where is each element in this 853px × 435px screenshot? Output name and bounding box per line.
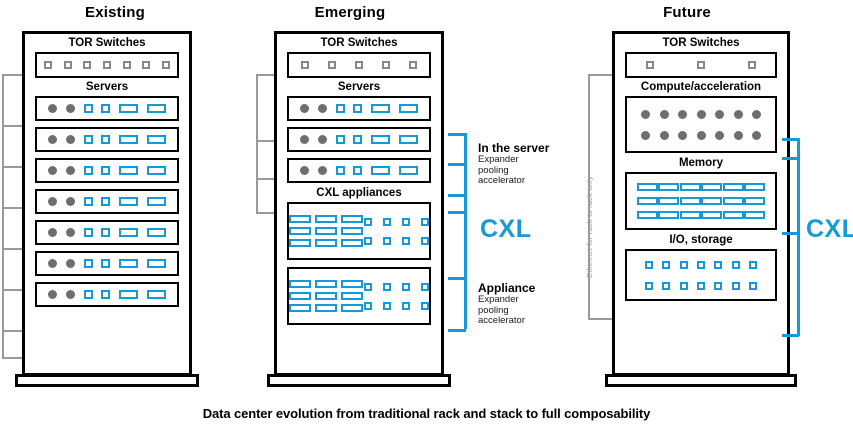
server-components	[296, 104, 422, 113]
section-label-servers-emerging: Servers	[277, 78, 441, 96]
io-device-icon	[714, 282, 722, 290]
annotation-in-the-server: In the server Expander pooling accelerat…	[478, 141, 549, 187]
io-device-icon	[714, 261, 722, 269]
column-future: Future Ethernet for rack to rack only TO…	[580, 0, 810, 400]
appliance-module-row	[289, 292, 363, 300]
server-stack-emerging	[277, 96, 441, 183]
server-components	[44, 228, 170, 237]
column-title-emerging: Emerging	[235, 4, 465, 21]
cxl-port-icon	[101, 166, 110, 175]
memory-module-icon	[744, 197, 765, 205]
tor-port-icon	[83, 61, 91, 69]
annotation-heading: In the server	[478, 141, 549, 155]
section-label-compute-future: Compute/acceleration	[615, 78, 787, 96]
annotation-line: accelerator	[478, 176, 549, 187]
cxl-port-icon	[383, 237, 391, 245]
io-device-icon	[732, 261, 740, 269]
cpu-dot-icon	[66, 259, 75, 268]
annotation-line: Expander	[478, 295, 535, 306]
cpu-dot-icon	[66, 135, 75, 144]
appliance-module-grid	[289, 280, 363, 312]
compute-dot-icon	[697, 131, 706, 140]
annotation-line: accelerator	[478, 316, 535, 327]
cxl-port-icon	[383, 218, 391, 226]
cxl-module-icon	[289, 239, 311, 247]
compute-dot-icon	[752, 131, 761, 140]
tor-port-icon	[355, 61, 363, 69]
tor-port-icon	[409, 61, 417, 69]
tor-port-icon	[123, 61, 131, 69]
cpu-dot-icon	[48, 228, 57, 237]
cxl-port-icon	[336, 104, 345, 113]
appliance-port-row	[364, 218, 429, 226]
tor-port-icon	[142, 61, 150, 69]
cxl-port-icon	[383, 283, 391, 291]
compute-dot-icon	[678, 110, 687, 119]
memory-module-icon	[680, 211, 701, 219]
cpu-dot-icon	[48, 104, 57, 113]
cpu-dot-icon	[66, 104, 75, 113]
cxl-module-icon	[341, 304, 363, 312]
compute-acceleration-unit[interactable]	[625, 96, 777, 153]
memory-module-icon	[701, 197, 722, 205]
compute-dot-icon	[660, 110, 669, 119]
io-storage-unit[interactable]	[625, 249, 777, 301]
appliance-module-row	[289, 280, 363, 288]
cxl-port-icon	[336, 166, 345, 175]
cxl-port-icon	[101, 135, 110, 144]
tor-port-icon	[301, 61, 309, 69]
appliance-module-row	[289, 227, 363, 235]
cxl-port-icon	[353, 166, 362, 175]
cxl-module-icon	[147, 135, 166, 144]
cxl-port-icon	[353, 104, 362, 113]
cxl-port-icon	[84, 290, 93, 299]
compute-dot-icon	[715, 110, 724, 119]
tor-port-icon	[328, 61, 336, 69]
cxl-port-icon	[402, 237, 410, 245]
cxl-module-icon	[341, 227, 363, 235]
section-label-servers-existing: Servers	[25, 78, 189, 96]
cpu-dot-icon	[318, 104, 327, 113]
appliance-port-row	[364, 237, 429, 245]
server-unit[interactable]	[35, 127, 179, 152]
cxl-port-icon	[364, 218, 372, 226]
cxl-module-icon	[119, 290, 138, 299]
cxl-port-icon	[364, 302, 372, 310]
cxl-port-icon	[364, 237, 372, 245]
io-device-icon	[749, 282, 757, 290]
cxl-port-icon	[84, 135, 93, 144]
cxl-module-icon	[341, 292, 363, 300]
memory-module-icon	[701, 183, 722, 191]
memory-module-icon	[744, 183, 765, 191]
tor-switch-unit-existing[interactable]	[35, 52, 179, 78]
io-device-icon	[697, 261, 705, 269]
cxl-port-icon	[84, 104, 93, 113]
cxl-module-icon	[289, 280, 311, 288]
cpu-dot-icon	[300, 104, 309, 113]
cxl-module-icon	[289, 215, 311, 223]
compute-dot-row	[627, 131, 775, 140]
compute-dot-icon	[641, 110, 650, 119]
appliance-contents	[289, 280, 429, 312]
cxl-module-icon	[119, 166, 138, 175]
compute-dot-icon	[697, 110, 706, 119]
cxl-module-icon	[315, 280, 337, 288]
cxl-module-icon	[341, 215, 363, 223]
cxl-module-icon	[399, 104, 418, 113]
cxl-appliance-unit[interactable]	[287, 202, 431, 260]
memory-module-icon	[723, 183, 744, 191]
cxl-module-icon	[119, 104, 138, 113]
memory-module-icon	[723, 211, 744, 219]
server-unit[interactable]	[35, 96, 179, 121]
memory-module-icon	[658, 197, 679, 205]
annotation-appliance: Appliance Expander pooling accelerator	[478, 281, 535, 327]
rack-existing: TOR Switches Servers	[22, 31, 192, 376]
cxl-module-icon	[147, 259, 166, 268]
memory-module-icon	[637, 197, 658, 205]
cpu-dot-icon	[318, 135, 327, 144]
cxl-port-icon	[421, 283, 429, 291]
server-unit[interactable]	[287, 158, 431, 183]
cxl-port-icon	[421, 237, 429, 245]
column-title-existing: Existing	[0, 4, 230, 21]
cxl-module-icon	[315, 292, 337, 300]
cxl-module-icon	[119, 228, 138, 237]
compute-dot-icon	[641, 131, 650, 140]
annotation-heading: Appliance	[478, 281, 535, 295]
ethernet-label-future: Ethernet for rack to rack only	[585, 176, 594, 278]
cxl-module-icon	[399, 135, 418, 144]
cxl-port-icon	[84, 166, 93, 175]
memory-module-icon	[680, 183, 701, 191]
tor-port-icon	[103, 61, 111, 69]
compute-dot-icon	[715, 131, 724, 140]
tor-switch-unit-emerging[interactable]	[287, 52, 431, 78]
section-label-appliances-emerging: CXL appliances	[277, 183, 441, 202]
cxl-module-icon	[147, 290, 166, 299]
memory-row	[627, 211, 775, 219]
memory-unit[interactable]	[625, 172, 777, 230]
io-row	[627, 282, 775, 290]
server-unit[interactable]	[35, 158, 179, 183]
cxl-module-icon	[315, 239, 337, 247]
appliance-port-row	[364, 283, 429, 291]
memory-row	[627, 197, 775, 205]
server-unit[interactable]	[287, 96, 431, 121]
memory-module-icon	[744, 211, 765, 219]
cxl-module-icon	[119, 259, 138, 268]
tor-port-icon	[44, 61, 52, 69]
memory-row	[627, 183, 775, 191]
memory-module-icon	[723, 197, 744, 205]
cpu-dot-icon	[48, 259, 57, 268]
cpu-dot-icon	[48, 135, 57, 144]
appliance-module-row	[289, 215, 363, 223]
cxl-port-icon	[364, 283, 372, 291]
cpu-dot-icon	[66, 228, 75, 237]
appliance-module-row	[289, 304, 363, 312]
compute-dot-row	[627, 110, 775, 119]
cxl-module-icon	[371, 135, 390, 144]
column-existing: Existing TOR Switches Servers	[0, 0, 230, 400]
cxl-port-icon	[353, 135, 362, 144]
cxl-port-icon	[421, 218, 429, 226]
memory-module-icon	[637, 211, 658, 219]
cxl-port-icon	[101, 197, 110, 206]
server-components	[44, 166, 170, 175]
cxl-module-icon	[147, 197, 166, 206]
cxl-module-icon	[147, 166, 166, 175]
server-components	[44, 290, 170, 299]
cxl-port-icon	[101, 290, 110, 299]
cxl-port-icon	[402, 283, 410, 291]
rack-base-future	[605, 374, 797, 387]
cxl-port-icon	[336, 135, 345, 144]
tor-switch-unit-future[interactable]	[625, 52, 777, 78]
server-unit[interactable]	[35, 251, 179, 276]
cpu-dot-icon	[318, 166, 327, 175]
cxl-module-icon	[289, 292, 311, 300]
cxl-label-future: CXL	[806, 215, 853, 244]
column-emerging: Emerging TOR Switches Servers CXL applia…	[250, 0, 480, 400]
cxl-module-icon	[315, 304, 337, 312]
column-title-future: Future	[572, 4, 802, 21]
server-components	[44, 259, 170, 268]
rack-emerging: TOR Switches Servers CXL appliances	[274, 31, 444, 376]
compute-dot-icon	[734, 131, 743, 140]
tor-port-icon	[64, 61, 72, 69]
cxl-port-icon	[84, 228, 93, 237]
appliance-port-row	[364, 302, 429, 310]
cpu-dot-icon	[66, 290, 75, 299]
io-device-icon	[662, 282, 670, 290]
server-unit[interactable]	[35, 282, 179, 307]
server-components	[296, 135, 422, 144]
figure-caption: Data center evolution from traditional r…	[0, 406, 853, 421]
io-device-icon	[662, 261, 670, 269]
cxl-module-icon	[119, 197, 138, 206]
memory-module-icon	[658, 183, 679, 191]
cxl-module-icon	[399, 166, 418, 175]
server-components	[44, 104, 170, 113]
cxl-port-icon	[84, 259, 93, 268]
io-device-icon	[645, 282, 653, 290]
server-unit[interactable]	[35, 189, 179, 214]
cpu-dot-icon	[66, 166, 75, 175]
io-device-icon	[645, 261, 653, 269]
appliance-module-grid	[289, 215, 363, 247]
compute-dot-icon	[734, 110, 743, 119]
cxl-module-icon	[315, 215, 337, 223]
cxl-module-icon	[315, 227, 337, 235]
cpu-dot-icon	[300, 166, 309, 175]
server-components	[44, 135, 170, 144]
tor-port-icon	[697, 61, 705, 69]
cpu-dot-icon	[300, 135, 309, 144]
cxl-module-icon	[147, 104, 166, 113]
io-device-icon	[680, 282, 688, 290]
cxl-port-icon	[421, 302, 429, 310]
cxl-module-icon	[341, 239, 363, 247]
server-components	[296, 166, 422, 175]
appliance-port-grid	[364, 283, 429, 310]
memory-module-icon	[680, 197, 701, 205]
cxl-module-icon	[119, 135, 138, 144]
appliance-contents	[289, 215, 429, 247]
cxl-port-icon	[402, 302, 410, 310]
cxl-module-icon	[147, 228, 166, 237]
rack-future: TOR Switches Compute/acceleration Memory…	[612, 31, 790, 376]
appliance-stack-emerging	[277, 202, 441, 325]
tor-port-icon	[748, 61, 756, 69]
tor-port-icon	[382, 61, 390, 69]
cxl-port-icon	[101, 259, 110, 268]
section-label-tor-future: TOR Switches	[615, 34, 787, 52]
io-device-icon	[680, 261, 688, 269]
io-device-icon	[749, 261, 757, 269]
tor-port-icon	[162, 61, 170, 69]
rack-base-existing	[15, 374, 199, 387]
cxl-port-icon	[84, 197, 93, 206]
rack-base-emerging	[267, 374, 451, 387]
cxl-module-icon	[289, 227, 311, 235]
memory-module-icon	[637, 183, 658, 191]
compute-dot-icon	[678, 131, 687, 140]
cpu-dot-icon	[48, 197, 57, 206]
cxl-label-emerging: CXL	[480, 215, 532, 244]
section-label-memory-future: Memory	[615, 153, 787, 172]
cpu-dot-icon	[48, 166, 57, 175]
io-device-icon	[732, 282, 740, 290]
server-unit[interactable]	[35, 220, 179, 245]
cxl-module-icon	[289, 304, 311, 312]
cxl-module-icon	[371, 166, 390, 175]
io-device-icon	[697, 282, 705, 290]
cxl-module-icon	[371, 104, 390, 113]
memory-module-icon	[701, 211, 722, 219]
cxl-port-icon	[101, 104, 110, 113]
cxl-port-icon	[402, 218, 410, 226]
cxl-appliance-unit[interactable]	[287, 267, 431, 325]
cxl-port-icon	[101, 228, 110, 237]
cxl-port-icon	[383, 302, 391, 310]
server-components	[44, 197, 170, 206]
section-label-tor-emerging: TOR Switches	[277, 34, 441, 52]
cpu-dot-icon	[48, 290, 57, 299]
memory-module-icon	[658, 211, 679, 219]
appliance-port-grid	[364, 218, 429, 245]
server-stack-existing	[25, 96, 189, 307]
compute-dot-icon	[752, 110, 761, 119]
annotation-line: Expander	[478, 155, 549, 166]
tor-port-icon	[646, 61, 654, 69]
cxl-module-icon	[341, 280, 363, 288]
appliance-module-row	[289, 239, 363, 247]
io-row	[627, 261, 775, 269]
section-label-io-future: I/O, storage	[615, 230, 787, 249]
server-unit[interactable]	[287, 127, 431, 152]
cpu-dot-icon	[66, 197, 75, 206]
compute-dot-icon	[660, 131, 669, 140]
section-label-tor-existing: TOR Switches	[25, 34, 189, 52]
